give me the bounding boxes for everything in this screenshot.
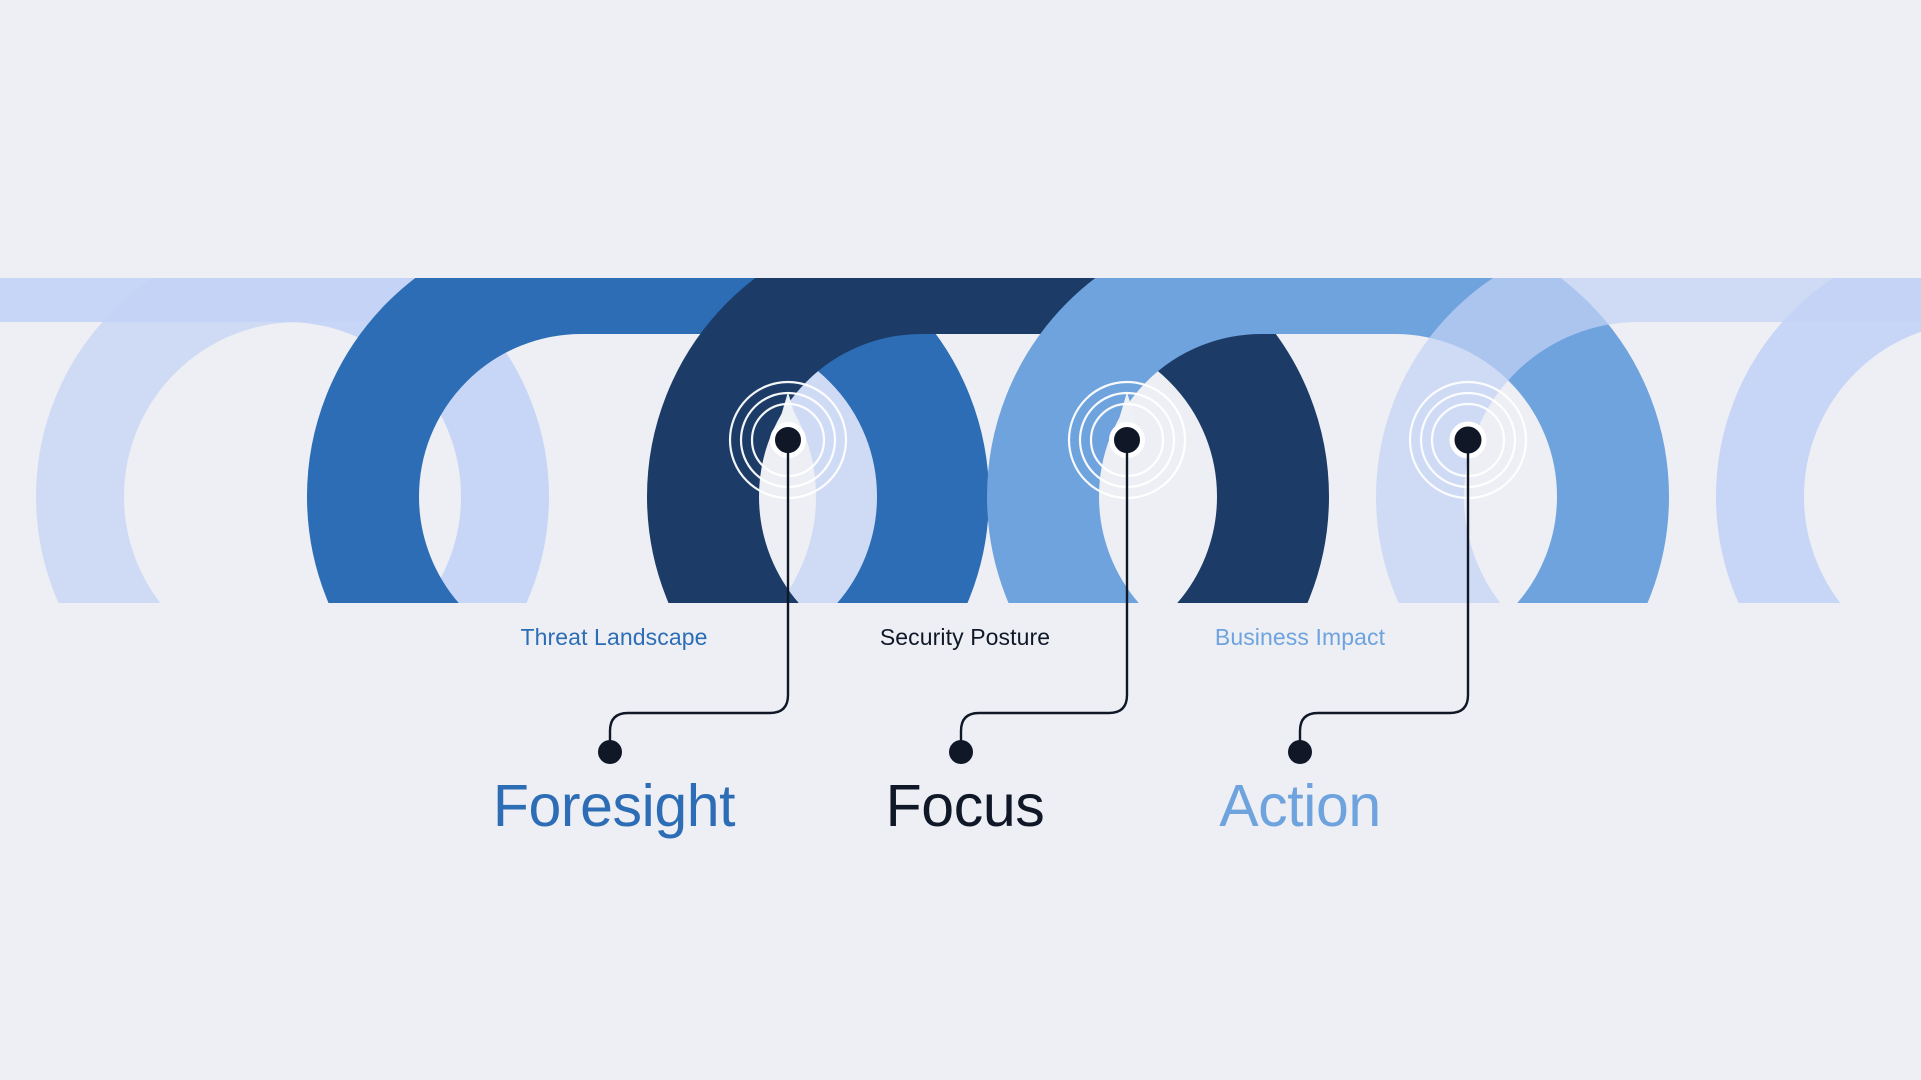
connector-dot-foresight — [598, 740, 622, 764]
node-label-security-posture: Security Posture — [880, 626, 1050, 649]
connector-line-foresight — [610, 440, 788, 745]
connector-dot-action — [1288, 740, 1312, 764]
node-label-business-impact: Business Impact — [1215, 626, 1385, 649]
connector-dot-focus — [949, 740, 973, 764]
diagram-canvas: Threat Landscape Security Posture Busine… — [0, 0, 1921, 1080]
headline-foresight: Foresight — [493, 777, 735, 836]
node-label-threat-landscape: Threat Landscape — [520, 626, 707, 649]
connector-line-focus — [961, 440, 1127, 745]
connector-line-action — [1300, 440, 1468, 745]
headline-action: Action — [1219, 777, 1381, 836]
headline-focus: Focus — [886, 777, 1045, 836]
connectors-graphic — [0, 0, 1921, 1080]
